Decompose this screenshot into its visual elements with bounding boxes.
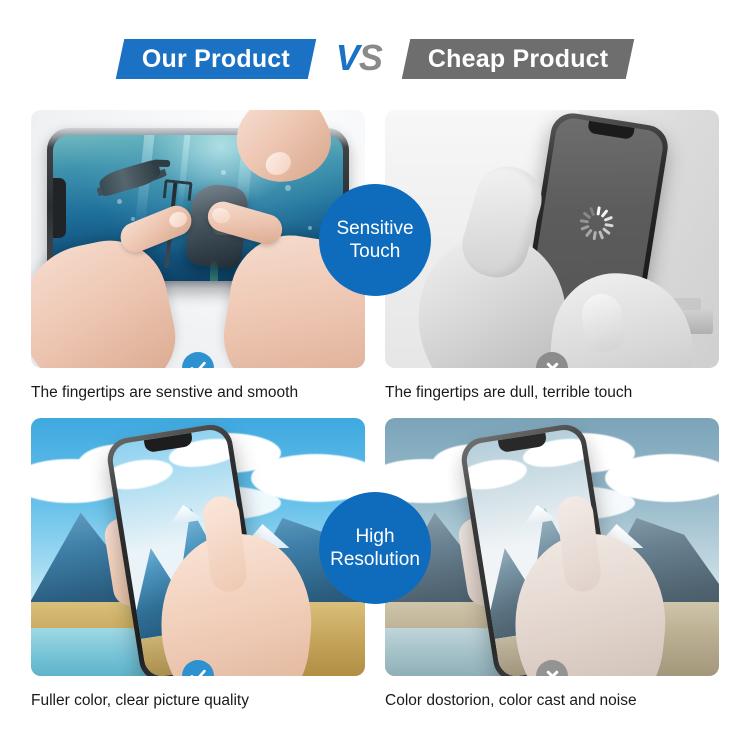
close-icon [544,668,561,677]
feature-line-2: Touch [350,240,401,263]
cloud [110,455,175,494]
panel-sensitive-touch-good: The fingertips are senstive and smooth [31,110,365,403]
cheap-product-banner: Cheap Product [402,39,635,79]
panel-caption: The fingertips are dull, terrible touch [385,384,719,403]
panel-high-resolution-bad: Color dostorion, color cast and noise [385,418,719,711]
close-icon [544,360,561,369]
comparison-infographic: Our Product VS Cheap Product [0,0,750,750]
our-product-label: Our Product [142,45,290,74]
feature-line-2: Resolution [330,548,420,571]
phone-notch [587,121,634,140]
comparison-header: Our Product VS Cheap Product [0,28,750,90]
fingernail [262,148,295,179]
loading-spinner-icon [577,204,616,243]
check-icon [189,667,207,676]
seaweed [210,259,218,281]
panel-high-resolution-good: Fuller color, clear picture quality [31,418,365,711]
photo-mountain-washed-out [385,418,719,676]
vs-letter-s: S [359,37,382,79]
fingernail [167,209,189,230]
cloud [464,455,529,494]
bubble [285,185,291,191]
panel-sensitive-touch-bad: The fingertips are dull, terrible touch [385,110,719,403]
feature-badge-sensitive-touch: Sensitive Touch [319,184,431,296]
bubble [221,170,226,175]
vs-letter-v: V [336,37,359,79]
photo-mountain-vivid [31,418,365,676]
bubble [308,226,312,230]
our-product-banner: Our Product [115,39,316,79]
feature-badge-high-resolution: High Resolution [319,492,431,604]
bubble [117,199,122,204]
feature-line-1: Sensitive [336,217,413,240]
fingernail [210,206,231,225]
cheap-product-label: Cheap Product [428,45,608,74]
vs-separator: VS [312,37,406,79]
panel-caption: Color dostorion, color cast and noise [385,692,719,711]
feature-line-1: High [355,525,394,548]
photo-loading-phone [385,110,719,368]
check-icon [189,359,207,368]
photo-gaming-phone [31,110,365,368]
phone-notch [53,178,66,238]
panel-caption: The fingertips are senstive and smooth [31,384,365,403]
game-diver-figure [98,159,164,197]
panel-caption: Fuller color, clear picture quality [31,692,365,711]
